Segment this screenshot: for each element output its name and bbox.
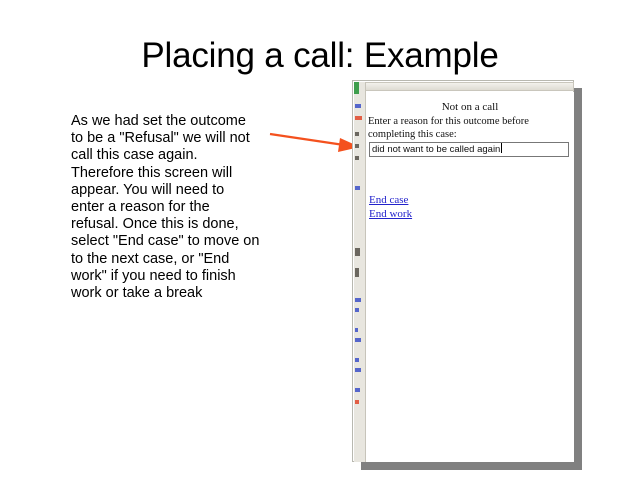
- sidebar-fragment: [355, 368, 361, 372]
- sidebar-fragment: [355, 328, 358, 332]
- reason-instruction-label: Enter a reason for this outcome before c…: [368, 116, 574, 141]
- sidebar-fragment: [355, 156, 359, 160]
- panel-toolbar-strip: [356, 82, 574, 91]
- reason-input-value: did not want to be called again: [372, 144, 500, 155]
- sidebar-fragment: [355, 248, 360, 256]
- panel-sidebar-strip: [354, 82, 366, 462]
- end-case-link[interactable]: End case: [369, 194, 408, 206]
- end-work-link[interactable]: End work: [369, 208, 412, 220]
- sidebar-fragment: [355, 104, 361, 108]
- sidebar-fragment: [355, 338, 361, 342]
- panel-frame: Not on a call Enter a reason for this ou…: [352, 80, 574, 462]
- reason-input[interactable]: did not want to be called again: [369, 142, 569, 157]
- status-marker: [354, 82, 359, 94]
- slide-body-text: As we had set the outcome to be a "Refus…: [71, 113, 261, 302]
- embedded-screenshot: Not on a call Enter a reason for this ou…: [352, 80, 580, 462]
- page-title: Placing a call: Example: [0, 36, 640, 76]
- sidebar-fragment: [355, 132, 359, 136]
- sidebar-fragment: [355, 358, 359, 362]
- panel-shadow-right: [573, 88, 582, 470]
- sidebar-fragment: [355, 144, 359, 148]
- panel-shadow-bottom: [361, 461, 582, 470]
- callout-arrow: [268, 124, 364, 158]
- sidebar-fragment: [355, 388, 360, 392]
- panel-heading: Not on a call: [366, 101, 574, 113]
- sidebar-fragment: [355, 116, 362, 120]
- slide-canvas: Placing a call: Example As we had set th…: [0, 0, 640, 480]
- sidebar-fragment: [355, 308, 359, 312]
- sidebar-fragment: [355, 186, 360, 190]
- panel-content-area: Not on a call Enter a reason for this ou…: [366, 92, 574, 462]
- sidebar-fragment: [355, 298, 361, 302]
- sidebar-fragment: [355, 268, 359, 277]
- sidebar-fragment: [355, 400, 359, 404]
- text-caret: [501, 143, 502, 153]
